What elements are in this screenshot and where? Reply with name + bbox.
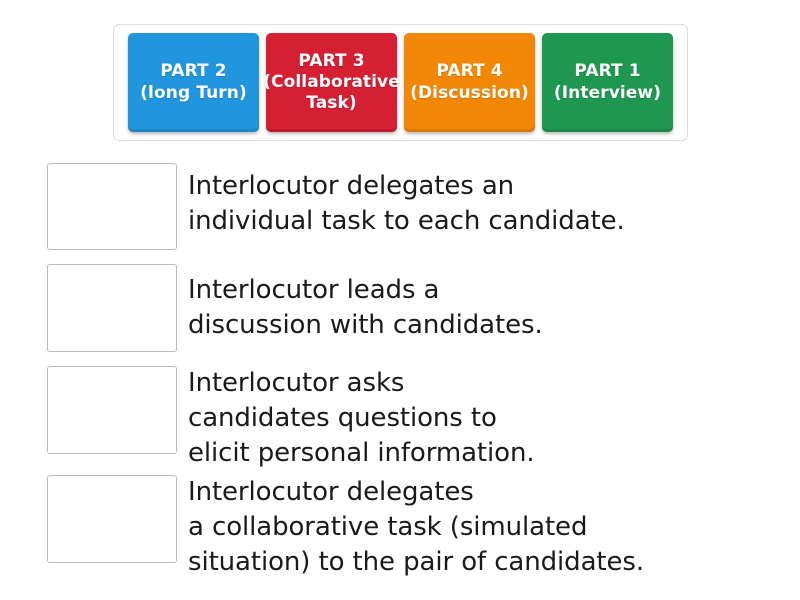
prompt-text-1: Interlocutor delegates an individual tas… — [188, 163, 757, 239]
answer-row: Interlocutor asks candidates questions t… — [47, 366, 757, 471]
answer-tile-label: PART 2 (long Turn) — [133, 61, 254, 103]
answer-tile-part-1[interactable]: PART 1 (Interview) — [542, 33, 673, 132]
answer-row: Interlocutor delegates an individual tas… — [47, 163, 757, 250]
answer-tile-label: PART 1 (Interview) — [547, 61, 668, 103]
drop-zone-4[interactable] — [47, 475, 177, 563]
answer-tile-label: PART 4 (Discussion) — [409, 61, 530, 103]
match-up-activity: PART 2 (long Turn) PART 3 (Collaborative… — [0, 0, 800, 600]
answer-tile-label: PART 3 (Collaborative Task) — [263, 51, 400, 114]
answer-tile-part-4[interactable]: PART 4 (Discussion) — [404, 33, 535, 132]
prompt-text-4: Interlocutor delegates a collaborative t… — [188, 475, 757, 580]
answer-rows: Interlocutor delegates an individual tas… — [47, 163, 757, 580]
answer-tile-part-3[interactable]: PART 3 (Collaborative Task) — [266, 33, 397, 132]
answer-row: Interlocutor leads a discussion with can… — [47, 264, 757, 352]
prompt-text-3: Interlocutor asks candidates questions t… — [188, 366, 757, 471]
answer-tile-tray: PART 2 (long Turn) PART 3 (Collaborative… — [113, 24, 688, 141]
drop-zone-3[interactable] — [47, 366, 177, 454]
prompt-text-2: Interlocutor leads a discussion with can… — [188, 264, 757, 343]
answer-tile-part-2[interactable]: PART 2 (long Turn) — [128, 33, 259, 132]
answer-row: Interlocutor delegates a collaborative t… — [47, 475, 757, 580]
drop-zone-2[interactable] — [47, 264, 177, 352]
drop-zone-1[interactable] — [47, 163, 177, 250]
